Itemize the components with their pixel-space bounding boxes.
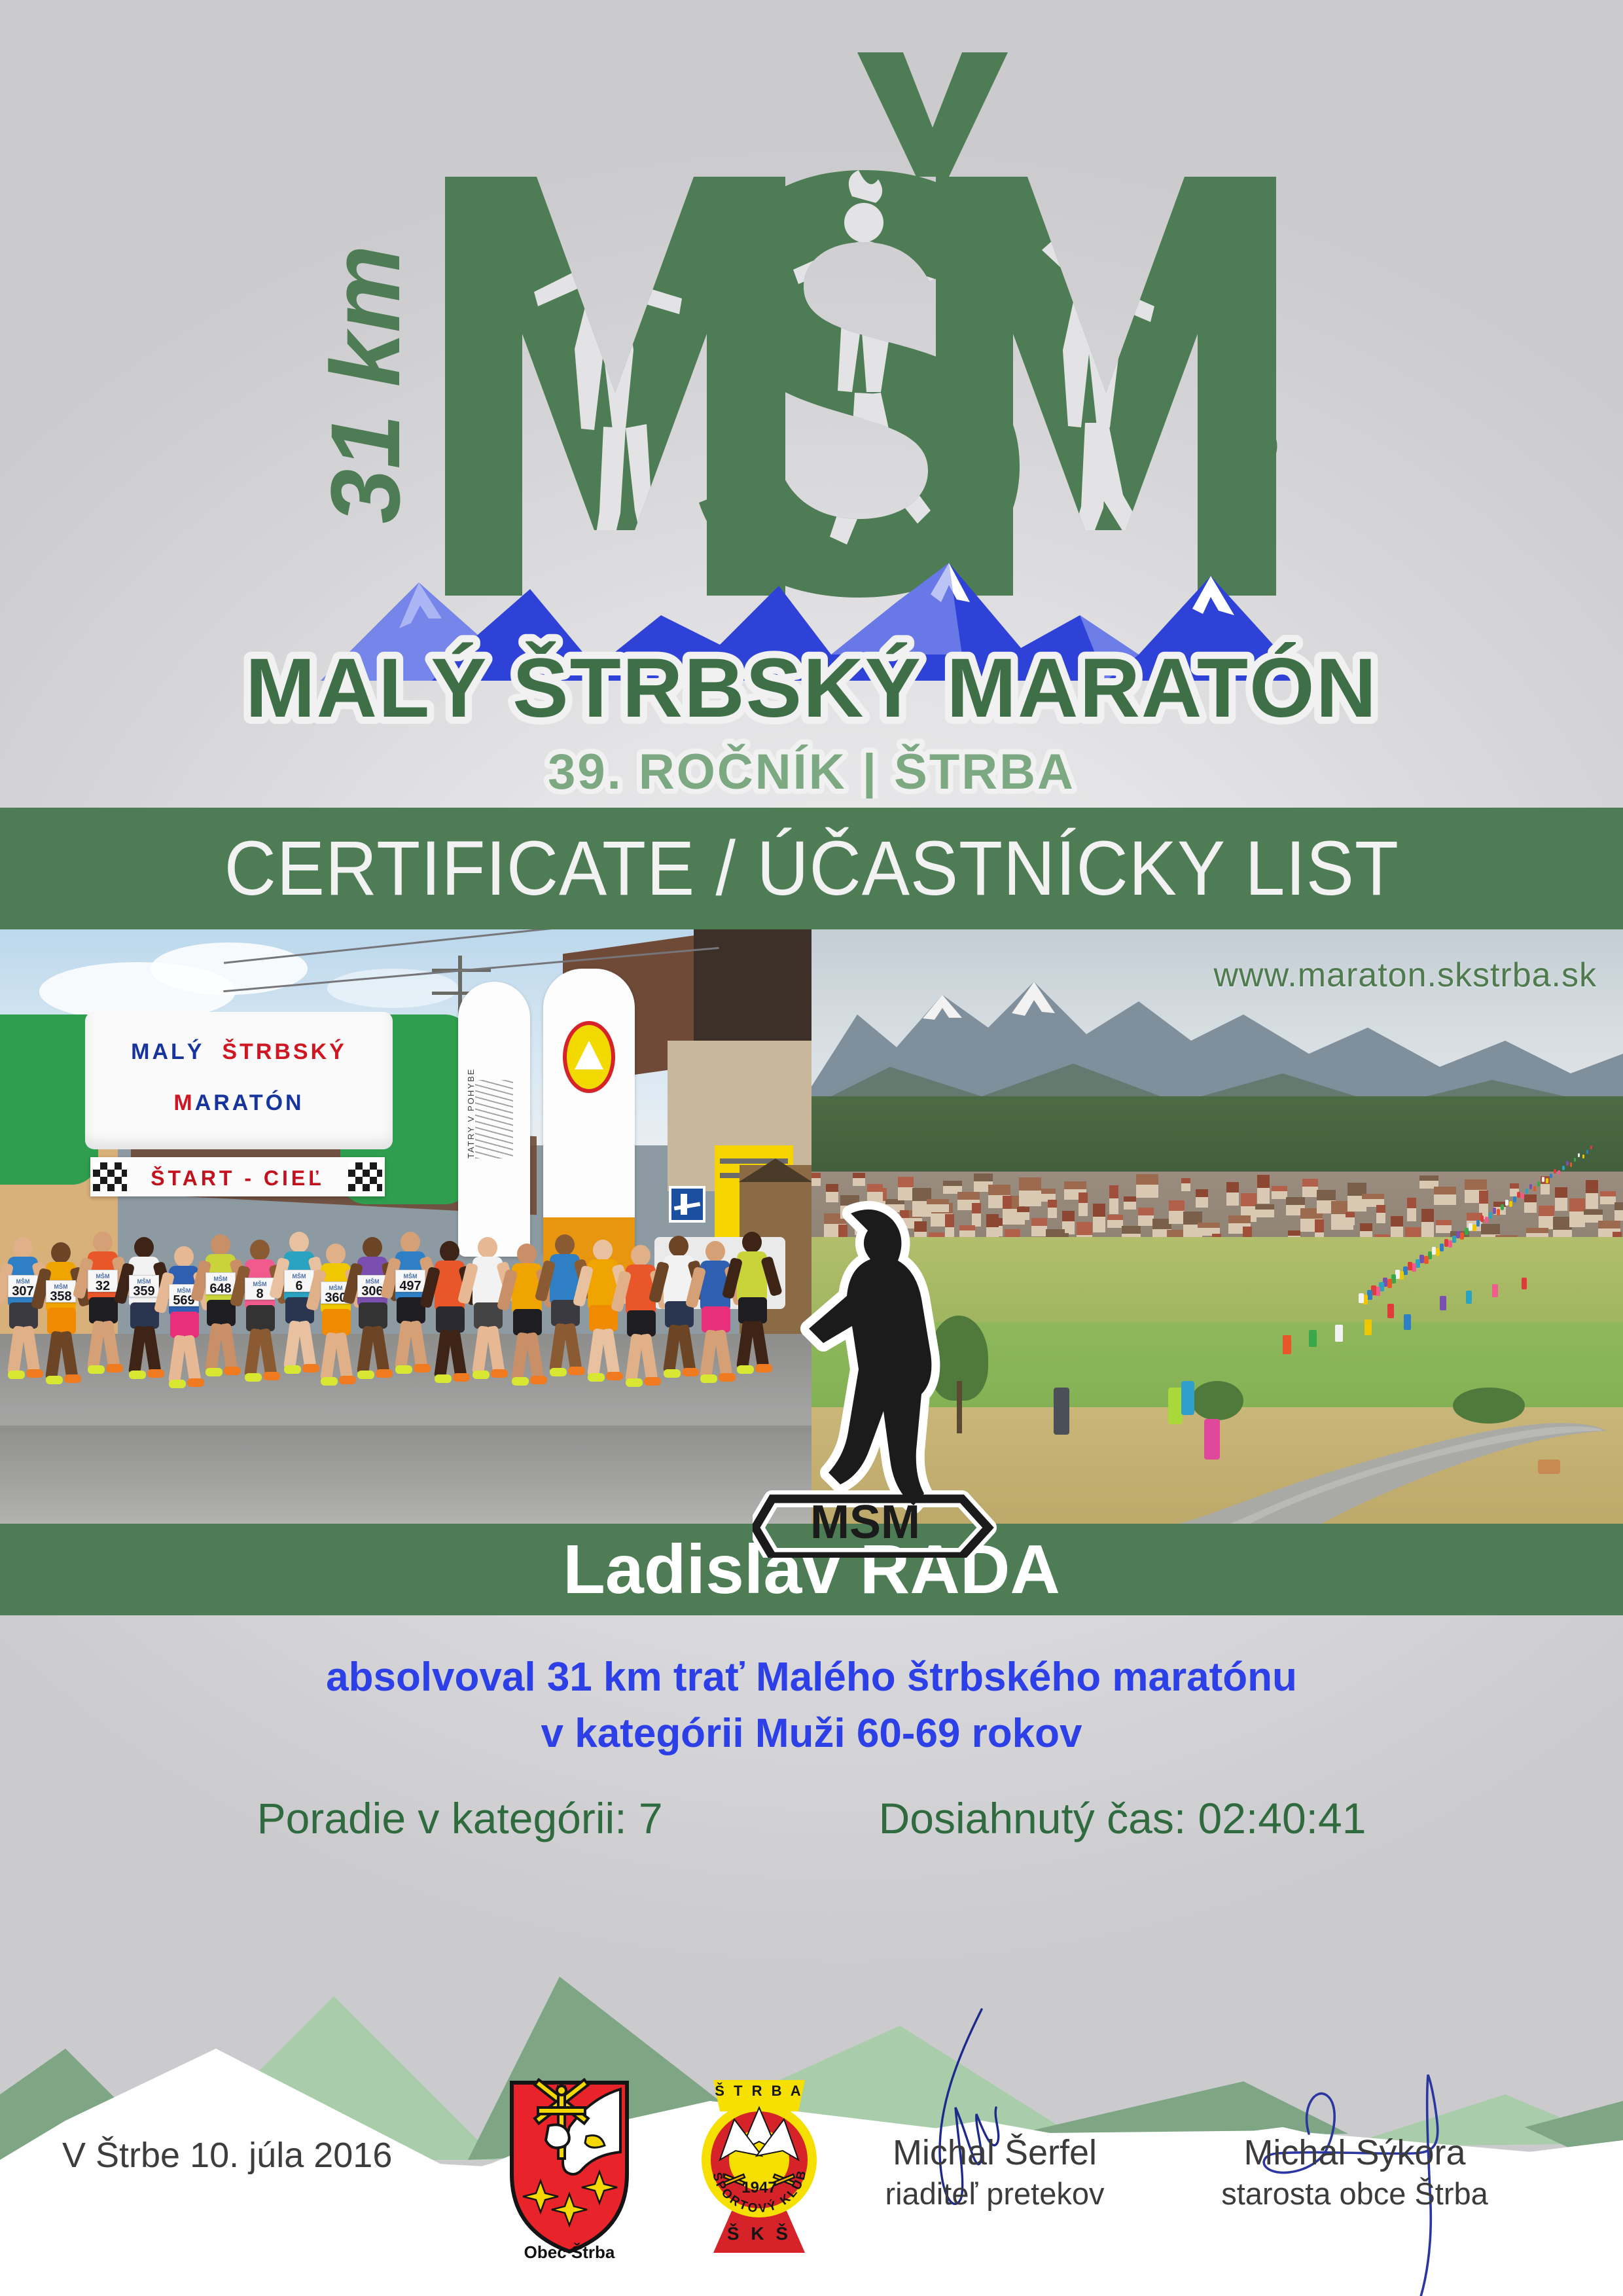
town-house [853,1178,865,1186]
runner-shoe [512,1377,529,1386]
distance-right: 10 km [1187,245,1297,524]
town-roof [1586,1180,1598,1193]
runner-shoe [473,1371,490,1379]
distant-runner [1387,1279,1392,1288]
distant-runner [1403,1266,1408,1275]
town-house [1019,1191,1041,1206]
mid-runner [1440,1296,1446,1310]
logo-subtitle: 39. ROČNÍK | ŠTRBA [548,744,1075,798]
runner-shoe [169,1380,186,1388]
runner-shoe [129,1371,146,1379]
distant-runner [1497,1209,1500,1215]
sks-strba-logo: Š T R B A 1947 ŠPORTOVÝ KLUB Š K Š [694,2068,825,2258]
distant-runner [1533,1186,1536,1191]
mid-runner [1364,1319,1372,1335]
distant-runner [1476,1220,1480,1227]
distant-runner [1440,1244,1444,1251]
runner-shoe [284,1365,301,1374]
runner-shorts [89,1297,118,1323]
signature-role: riaditeľ pretekov [857,2176,1132,2212]
distant-runner [1367,1290,1372,1300]
distant-runner [1452,1236,1456,1243]
town-roof [1124,1196,1136,1202]
town-house [1136,1185,1158,1198]
town-roof [1479,1191,1488,1204]
runner-head [631,1245,651,1266]
mid-runner [1522,1278,1527,1289]
issue-date: V Štrbe 10. júla 2016 [62,2135,392,2176]
distant-runner [1558,1170,1560,1175]
town-roof [1569,1198,1585,1211]
distant-runner [1582,1155,1584,1158]
town-roof [1362,1194,1384,1199]
distant-runner [1480,1215,1484,1222]
arch-line-1: MALÝ ŠTRBSKÝ [85,1039,393,1065]
town-roof [1169,1200,1185,1211]
rank-label: Poradie v kategórii: [257,1794,627,1842]
description-line-1: absolvoval 31 km trať Malého štrbského m… [0,1649,1623,1706]
cow [1538,1460,1560,1474]
distant-runner [1424,1256,1429,1264]
town-house [1196,1197,1208,1208]
town-roof [811,1173,821,1178]
town-house [1181,1183,1190,1191]
road-shadow [0,1426,811,1524]
town-roof [1196,1189,1208,1197]
town-house [1302,1187,1318,1197]
runner-shorts [47,1308,76,1334]
town-house [1586,1193,1598,1209]
distant-runner [1391,1274,1396,1283]
distance-right-text: 10 km [1187,245,1297,524]
distant-runner [1590,1145,1592,1149]
town-roof [1003,1196,1012,1209]
crest-caption: Obec Štrba [524,2242,615,2259]
town-roof [1064,1181,1086,1189]
runner-shoe [626,1378,643,1387]
distant-runner [1505,1200,1508,1206]
sks-top-text: Š T R B A [715,2083,803,2099]
mid-runner [1466,1291,1472,1304]
runner-shoe [550,1368,567,1376]
runner-bib: MŠM32 [88,1270,118,1292]
runner-head [51,1242,71,1263]
flag-artwork [475,1080,513,1158]
distant-runner [1412,1263,1416,1272]
runner-shoe [46,1376,63,1384]
town-roof [898,1177,914,1187]
town-house [1272,1191,1287,1199]
runner-shoe [664,1369,681,1378]
caron-mark [857,52,1008,177]
mid-runner [1387,1304,1394,1318]
distant-runner [1509,1201,1512,1207]
runner-head [478,1237,497,1258]
logo-title: MALÝ ŠTRBSKÝ MARATÓN [245,641,1378,735]
town-roof [1255,1204,1274,1210]
runner-bib: MŠM358 [46,1280,76,1302]
cloud [327,969,458,1008]
distant-runner [1472,1225,1476,1231]
town-roof [1614,1202,1623,1210]
runner-head [440,1241,459,1262]
distant-runner [1359,1293,1364,1303]
distant-runner [1586,1150,1588,1154]
distant-runner [1416,1259,1420,1268]
town-roof [1600,1191,1616,1196]
bush [1453,1388,1525,1424]
town-house [1226,1193,1239,1206]
arch-line-2: MARATÓN [85,1090,393,1116]
town-house [1124,1202,1136,1210]
town-roof [1555,1187,1567,1198]
distant-runner [1448,1240,1452,1247]
town-house [1257,1188,1270,1204]
distant-runner [1546,1178,1548,1183]
runner-shoe [321,1377,338,1386]
certificate-footer: V Štrbe 10. júla 2016 Obec [0,2062,1623,2296]
distant-runner [1432,1247,1436,1255]
sks-bottom-text: Š K Š [727,2223,791,2244]
distant-runner [1460,1232,1464,1240]
town-roof [1434,1187,1456,1194]
town-roof [1019,1177,1041,1191]
town-roof [1302,1179,1318,1187]
runner-head [211,1234,230,1255]
town-house [811,1178,821,1186]
msm-runner-sticker: MŠM [753,1191,1001,1558]
runner-shoe [8,1371,25,1379]
distant-runner [1436,1248,1440,1256]
start-finish-text: ŠTART - CIEĽ [90,1166,385,1191]
town-roof [1419,1175,1438,1181]
distant-runner [1428,1251,1432,1259]
distant-runner [1570,1162,1572,1167]
achievement-description: absolvoval 31 km trať Malého štrbského m… [0,1649,1623,1761]
foreground-runner [1168,1388,1183,1424]
runner-shoe [395,1365,412,1374]
distant-runner [1542,1177,1544,1182]
sticker-label: MŠM [810,1496,920,1549]
runner-head [517,1244,537,1265]
foreground-runner [1204,1419,1220,1460]
town-roof [1465,1179,1487,1190]
distance-left-text: 31 km [310,245,420,524]
start-finish-banner: ŠTART - CIEĽ [90,1157,385,1196]
runner-shoe [357,1371,374,1379]
msm-logo-svg: 31 km [203,26,1420,798]
town-roof [1493,1202,1506,1207]
distant-runner [1578,1153,1580,1157]
runner-head [363,1237,382,1258]
sks-year: 1947 [741,2179,776,2197]
town-roof [1317,1190,1336,1200]
feather-flag-sks [543,969,635,1257]
signature-role: starosta obce Štrba [1198,2176,1512,2212]
runner-shoe [245,1373,262,1382]
mid-runner [1492,1284,1498,1297]
runner-shoe [435,1374,452,1383]
distant-runner [1444,1239,1448,1247]
arch-banner: MALÝ ŠTRBSKÝ MARATÓN [85,1012,393,1149]
photo-start-line: MALÝ ŠTRBSKÝ MARATÓN ŠTART - CIEĽ TATRY … [0,929,811,1524]
town-roof [1136,1174,1158,1185]
runner-head [401,1232,420,1253]
runner-head [93,1232,113,1253]
distant-runner [1562,1166,1565,1170]
runner-head [13,1237,33,1258]
distant-runner [1408,1262,1412,1270]
town-house [1434,1194,1456,1205]
signature-block-director: Michal Šerfel riaditeľ pretekov [857,2132,1132,2212]
runner-shoe [205,1368,223,1376]
finish-time: Dosiahnutý čas: 02:40:41 [879,1793,1366,1843]
certificate-title: CERTIFICATE / ÚČASTNÍCKY LIST [224,824,1399,913]
distant-runner [1456,1231,1460,1238]
town-roof [1272,1186,1287,1191]
town-roof [1226,1182,1239,1193]
result-stats: Poradie v kategórii: 7 Dosiahnutý čas: 0… [0,1793,1623,1843]
mid-runner [1335,1325,1343,1342]
distance-left: 31 km [310,245,420,524]
signature-name: Michal Sýkora [1198,2132,1512,2173]
town-roof [1079,1193,1088,1203]
distant-runner [1489,1212,1492,1219]
distant-runner [1501,1204,1504,1210]
town-roof [853,1173,865,1178]
crest-hand [546,2125,569,2147]
obec-strba-crest: Obec Štrba [504,2076,635,2259]
certificate-page: 31 km [0,0,1623,2296]
distant-runner [1465,1228,1469,1235]
distant-runner [1399,1271,1404,1280]
runner-head [250,1240,270,1261]
description-line-2: v kategórii Muži 60-69 rokov [0,1706,1623,1762]
town-roof [1241,1193,1257,1206]
distant-runner [1395,1270,1400,1279]
time-label: Dosiahnutý čas: [879,1794,1186,1842]
distant-runner [1469,1223,1472,1230]
town-roof [943,1181,962,1186]
signature-block-mayor: Michal Sýkora starosta obce Štrba [1198,2132,1512,2212]
runner-shoe [737,1365,754,1374]
town-roof [1048,1200,1057,1208]
town-roof [1257,1175,1270,1188]
distant-runner [1517,1192,1520,1198]
foreground-runner [1181,1381,1194,1415]
mid-runner [1309,1330,1317,1347]
category-rank: Poradie v kategórii: 7 [257,1793,663,1843]
mid-runner [1283,1335,1291,1354]
mid-runner [1404,1314,1411,1330]
runner-head [593,1240,613,1261]
town-roof [1181,1178,1190,1183]
town-roof [1286,1197,1305,1205]
distant-runner [1550,1174,1552,1178]
town-roof [1524,1194,1537,1202]
distant-runner [1537,1181,1540,1187]
town-house [1555,1198,1567,1211]
town-roof [1109,1185,1118,1198]
runner-head [555,1234,575,1255]
distant-runner [1529,1184,1532,1189]
signature-name: Michal Šerfel [857,2132,1132,2173]
distant-runner [1521,1193,1524,1199]
runner-shoe [588,1373,605,1382]
distant-runner [1513,1196,1516,1202]
time-value: 02:40:41 [1198,1794,1366,1842]
rank-value: 7 [639,1794,663,1842]
town-roof [974,1174,993,1181]
spectator [1054,1388,1069,1435]
runner-shoe [700,1374,717,1383]
distant-runner [1485,1217,1488,1223]
certificate-title-band: CERTIFICATE / ÚČASTNÍCKY LIST [0,808,1623,929]
website-url: www.maraton.skstrba.sk [1214,956,1597,995]
town-roof [1510,1183,1519,1189]
event-logo: 31 km [0,0,1623,805]
distant-runner [1419,1255,1424,1263]
distant-runner [1554,1169,1556,1174]
town-house [1600,1196,1616,1204]
runner-head [134,1237,154,1258]
town-roof [1407,1198,1416,1208]
bush [1191,1381,1243,1420]
distant-runner [1566,1161,1569,1166]
runner-shoe [88,1365,105,1374]
town-house [1541,1184,1550,1194]
distant-runner [1493,1208,1496,1214]
